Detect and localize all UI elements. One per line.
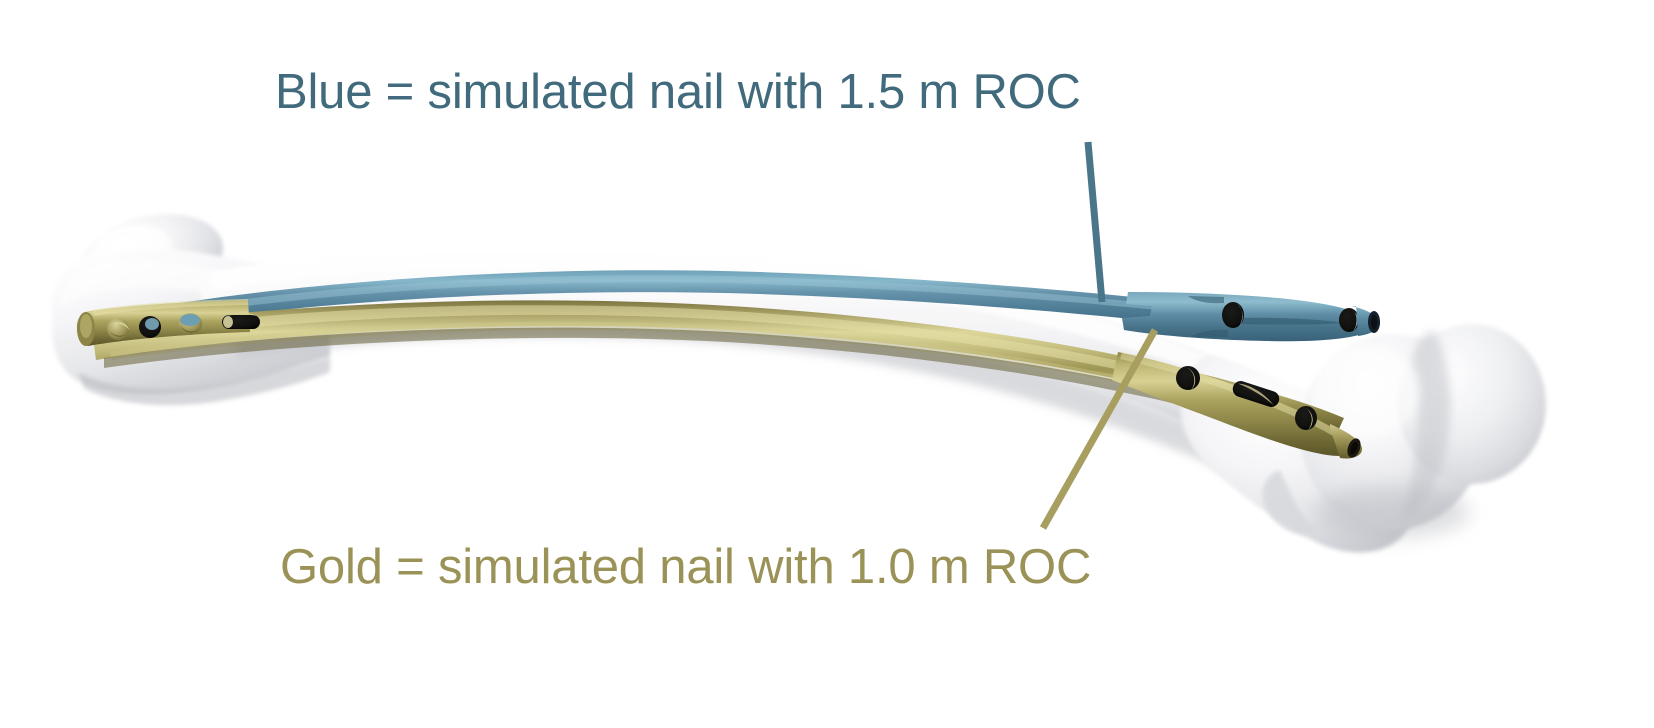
- gold-proximal-hole-3: [178, 313, 202, 335]
- gold-distal-hole-1: [1176, 366, 1200, 390]
- blue-distal-hole-2: [1339, 308, 1359, 332]
- legend-label-gold: Gold = simulated nail with 1.0 m ROC: [280, 538, 1091, 596]
- gold-proximal-hole-1: [107, 318, 129, 340]
- blue-distal-hole-1: [1222, 302, 1244, 328]
- distal-humerus: [1180, 324, 1546, 552]
- gold-distal-hole-2: [1295, 406, 1317, 430]
- gold-proximal-slot: [222, 313, 260, 329]
- legend-label-blue: Blue = simulated nail with 1.5 m ROC: [275, 63, 1081, 121]
- blue-leader-line: [1088, 142, 1102, 302]
- figure-canvas: Blue = simulated nail with 1.5 m ROC Gol…: [0, 0, 1654, 728]
- blue-nail-distal-segment: [1122, 292, 1371, 341]
- gold-proximal-hole-2: [139, 316, 161, 338]
- humerus-bone: [51, 202, 1546, 552]
